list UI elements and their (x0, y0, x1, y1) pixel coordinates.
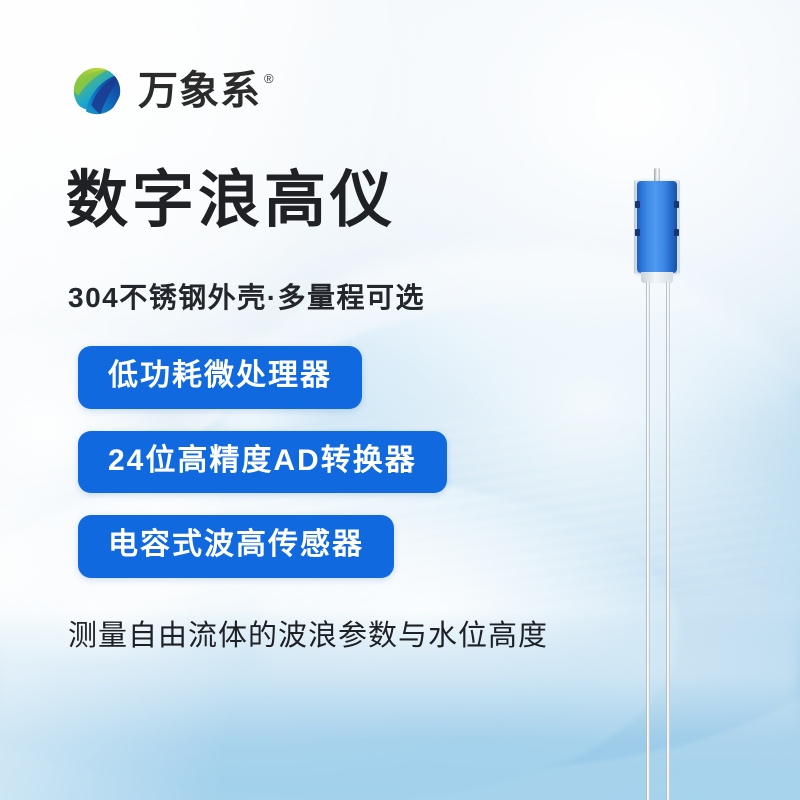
brand-logo: 万象系 ® (68, 62, 274, 120)
brand-name: 万象系 (138, 71, 261, 111)
page-subtitle: 304不锈钢外壳·多量程可选 (68, 276, 425, 316)
sensor-housing (637, 181, 677, 273)
product-poster: 万象系 ® 数字浪高仪 304不锈钢外壳·多量程可选 低功耗微处理器 24位高精… (0, 0, 800, 800)
probe-rod-left-highlight (647, 282, 648, 800)
housing-stud (635, 201, 640, 208)
feature-badge-sensor[interactable]: 电容式波高传感器 (78, 515, 394, 578)
housing-stud (635, 229, 640, 236)
feature-badge-list: 低功耗微处理器 24位高精度AD转换器 电容式波高传感器 (78, 346, 447, 578)
feature-badge-processor[interactable]: 低功耗微处理器 (78, 346, 362, 409)
housing-stud (674, 201, 679, 208)
registered-trademark-icon: ® (264, 72, 274, 85)
page-title: 数字浪高仪 (66, 168, 396, 233)
housing-stud (674, 229, 679, 236)
antenna-cap-icon (654, 168, 660, 182)
brand-wordmark: 万象系 ® (138, 71, 274, 111)
globe-swirl-logo-icon (68, 62, 126, 120)
feature-badge-adc[interactable]: 24位高精度AD转换器 (78, 431, 447, 494)
probe-rod-right-highlight (667, 282, 668, 800)
page-tagline: 测量自由流体的波浪参数与水位高度 (68, 612, 548, 654)
product-image-wave-height-meter (614, 168, 700, 800)
